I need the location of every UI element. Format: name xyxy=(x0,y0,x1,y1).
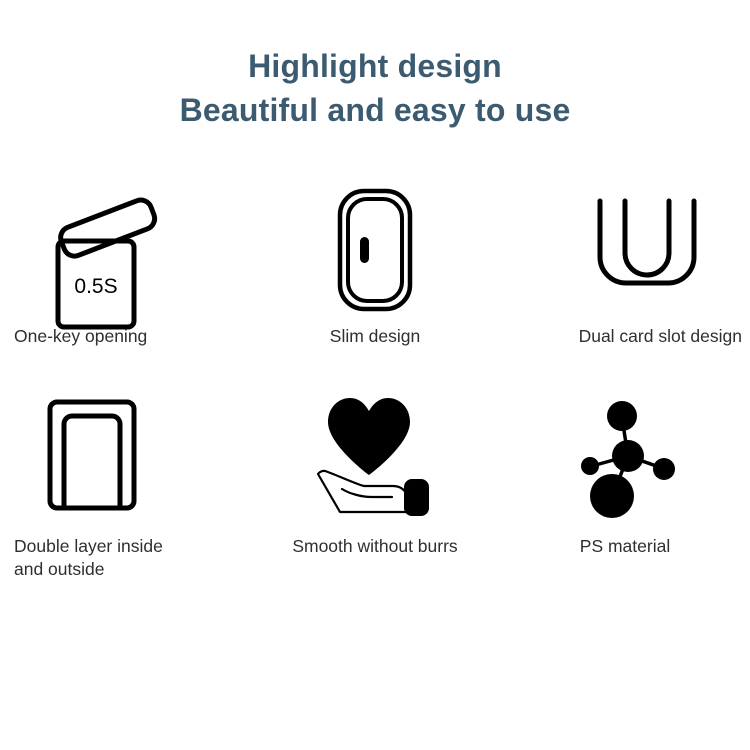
molecule-atom-top-icon xyxy=(607,401,637,431)
feature-caption: Smooth without burrs xyxy=(250,535,500,558)
rounded-case-outline-icon xyxy=(332,185,418,315)
feature-caption: Double layer inside and outside xyxy=(0,535,250,581)
feature-item-dual-card-slot: Dual card slot design xyxy=(500,175,750,375)
feature-icon-container xyxy=(500,175,750,325)
feature-item-double-layer: Double layer inside and outside xyxy=(0,375,250,575)
hand-crease-line-icon xyxy=(342,489,392,497)
page-title-line-2: Beautiful and easy to use xyxy=(0,88,750,132)
box-badge-text: 0.5S xyxy=(74,275,117,298)
feature-icon-container: 0.5S xyxy=(0,175,250,325)
feature-item-slim-design: Slim design xyxy=(250,175,500,375)
feature-icon-container xyxy=(250,375,500,535)
dual-u-slot-icon xyxy=(592,195,702,305)
case-button-icon xyxy=(360,237,369,263)
wrist-cuff-icon xyxy=(404,479,429,516)
page-title-line-1: Highlight design xyxy=(0,44,750,88)
feature-item-one-key-opening: 0.5S One-key opening xyxy=(0,175,250,375)
molecule-atom-bottom-icon xyxy=(590,474,634,518)
box-with-open-lid-icon: 0.5S xyxy=(42,185,152,315)
feature-caption: Slim design xyxy=(250,325,500,348)
molecule-atom-left-icon xyxy=(581,457,599,475)
feature-icon-container xyxy=(0,375,250,535)
feature-icon-container xyxy=(500,375,750,535)
feature-caption: Dual card slot design xyxy=(500,325,750,348)
molecule-atom-right-icon xyxy=(653,458,675,480)
page-title: Highlight design Beautiful and easy to u… xyxy=(0,44,750,132)
heart-icon xyxy=(328,398,410,475)
feature-caption: One-key opening xyxy=(0,325,250,348)
feature-grid: 0.5S One-key opening Slim design xyxy=(0,175,750,575)
feature-item-smooth-without-burrs: Smooth without burrs xyxy=(250,375,500,575)
molecule-atom-center-icon xyxy=(612,440,644,472)
infographic-page: Highlight design Beautiful and easy to u… xyxy=(0,0,750,750)
hand-icon xyxy=(318,470,407,511)
feature-icon-container xyxy=(250,175,500,325)
feature-caption: PS material xyxy=(500,535,750,558)
feature-item-ps-material: PS material xyxy=(500,375,750,575)
feature-caption-line-1: Double layer inside xyxy=(14,536,163,556)
feature-caption-line-2: and outside xyxy=(14,559,105,579)
double-layer-rectangle-icon xyxy=(44,396,140,514)
heart-in-hand-icon xyxy=(312,393,442,518)
molecule-icon xyxy=(574,396,684,514)
